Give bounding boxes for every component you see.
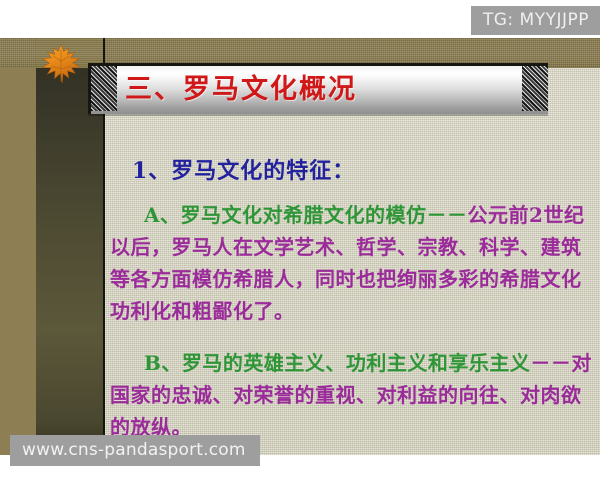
slide-subheading: 1、罗马文化的特征： <box>132 153 594 185</box>
slide-title-bar: 三、罗马文化概况 <box>88 63 548 114</box>
slide-body-content: 1、罗马文化的特征： A、罗马文化对希腊文化的模仿－－公元前2世纪以后，罗马人在… <box>110 153 594 455</box>
paragraph-b: B、罗马的英雄主义、功利主义和享乐主义－－对国家的忠诚、对荣誉的重视、对利益的向… <box>110 347 594 443</box>
paragraph-a: A、罗马文化对希腊文化的模仿－－公元前2世纪以后，罗马人在文学艺术、哲学、宗教、… <box>110 199 594 327</box>
slide-title: 三、罗马文化概况 <box>125 68 357 112</box>
watermark-top-right: TG: MYYJJPP <box>471 6 600 35</box>
maple-leaf-icon <box>40 43 82 87</box>
slide-canvas: 三、罗马文化概况 1、罗马文化的特征： A、罗马文化对希腊文化的模仿－－公元前2… <box>0 38 600 455</box>
granite-block-right-icon <box>522 66 548 111</box>
granite-block-left-icon <box>91 66 117 111</box>
paragraph-b-lead: B、罗马的英雄主义、功利主义和享乐主义 <box>144 351 530 375</box>
watermark-bottom-left: www.cns-pandasport.com <box>10 435 260 466</box>
paragraph-a-lead: A、罗马文化对希腊文化的模仿－－ <box>144 203 468 227</box>
